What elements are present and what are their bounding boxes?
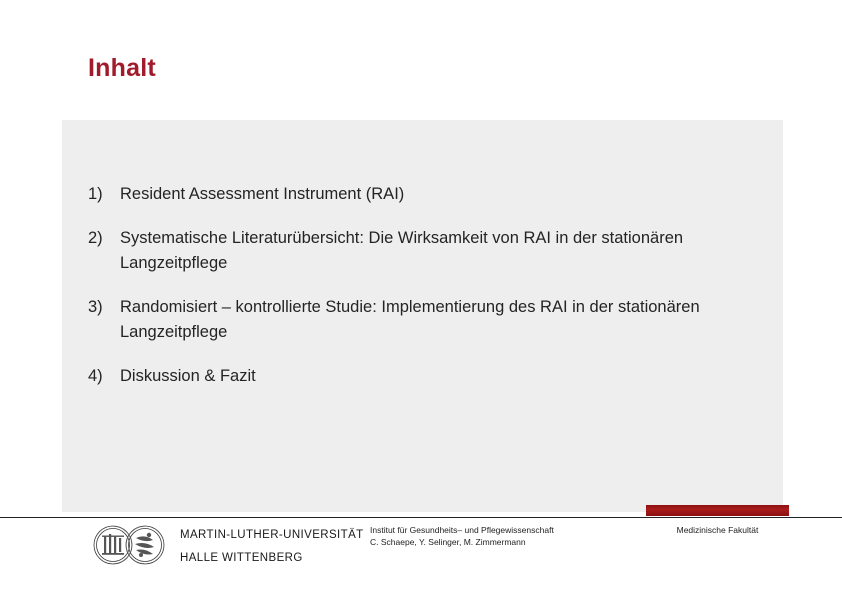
list-item-label: Diskussion & Fazit bbox=[120, 364, 760, 389]
institute-credit: Institut für Gesundheits– und Pflegewiss… bbox=[370, 524, 554, 549]
list-item-number: 3) bbox=[88, 295, 120, 320]
university-wordmark-line1: MARTIN-LUTHER-UNIVERSITÄT bbox=[180, 529, 364, 541]
list-item-label: Resident Assessment Instrument (RAI) bbox=[120, 182, 760, 207]
university-wordmark-line2: HALLE WITTENBERG bbox=[180, 552, 303, 564]
institute-name: Institut für Gesundheits– und Pflegewiss… bbox=[370, 524, 554, 536]
list-item: 3) Randomisiert – kontrollierte Studie: … bbox=[88, 295, 773, 345]
list-item-number: 4) bbox=[88, 364, 120, 389]
faculty-accent-bar bbox=[646, 505, 789, 516]
university-logo: MARTIN-LUTHER-UNIVERSITÄT HALLE WITTENBE… bbox=[86, 522, 364, 568]
agenda-list: 1) Resident Assessment Instrument (RAI) … bbox=[88, 182, 773, 408]
content-panel: 1) Resident Assessment Instrument (RAI) … bbox=[62, 120, 783, 512]
list-item: 4) Diskussion & Fazit bbox=[88, 364, 773, 389]
martin-luther-university-seal-icon bbox=[86, 524, 172, 566]
list-item-label: Randomisiert – kontrollierte Studie: Imp… bbox=[120, 295, 760, 345]
footer-divider bbox=[0, 517, 842, 518]
institute-authors: C. Schaepe, Y. Selinger, M. Zimmermann bbox=[370, 536, 554, 548]
faculty-label: Medizinische Fakultät bbox=[646, 525, 789, 535]
list-item-number: 1) bbox=[88, 182, 120, 207]
list-item: 2) Systematische Literaturübersicht: Die… bbox=[88, 226, 773, 276]
page-title: Inhalt bbox=[88, 55, 156, 83]
list-item-number: 2) bbox=[88, 226, 120, 251]
university-wordmark: MARTIN-LUTHER-UNIVERSITÄT HALLE WITTENBE… bbox=[180, 522, 364, 568]
list-item-label: Systematische Literaturübersicht: Die Wi… bbox=[120, 226, 760, 276]
list-item: 1) Resident Assessment Instrument (RAI) bbox=[88, 182, 773, 207]
